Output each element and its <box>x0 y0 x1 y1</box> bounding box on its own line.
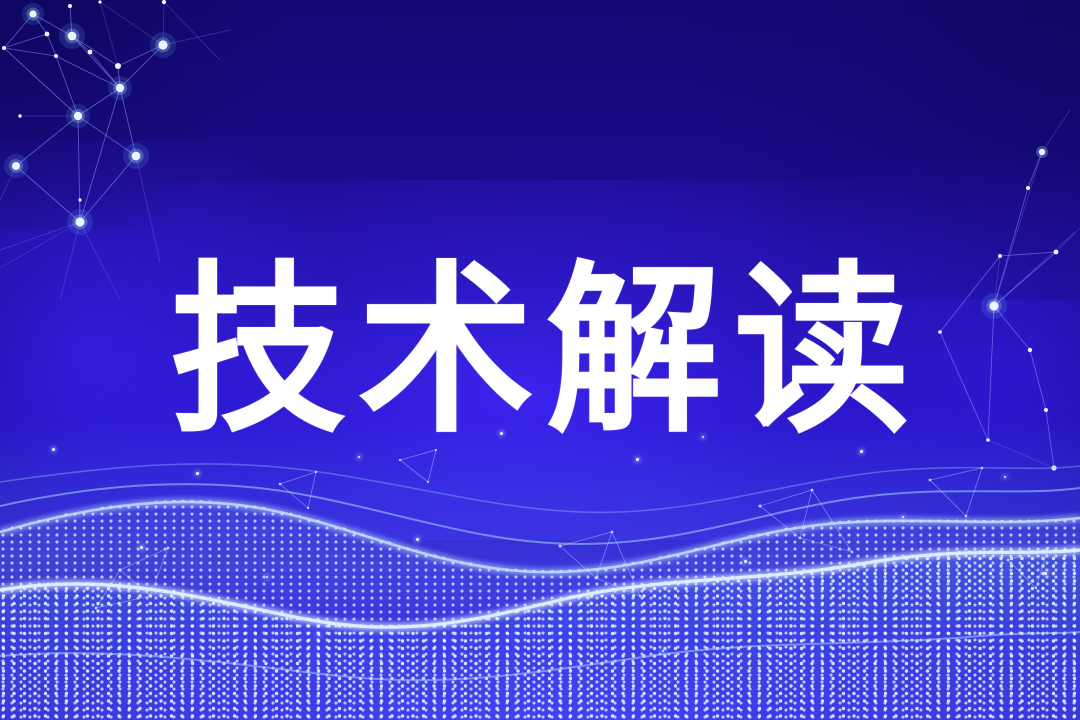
speck <box>500 432 503 435</box>
particle-wave-section <box>0 420 1080 720</box>
speck <box>52 448 55 451</box>
speck <box>1004 476 1006 478</box>
speck <box>196 472 199 475</box>
speck <box>266 576 268 578</box>
speck <box>416 538 419 541</box>
speck <box>318 634 320 636</box>
speck <box>702 436 704 438</box>
speck <box>744 560 747 563</box>
speck <box>842 626 844 628</box>
speck <box>140 546 143 549</box>
page-title: 技术解读 <box>158 260 922 443</box>
speck <box>586 596 588 598</box>
speck <box>358 456 360 458</box>
banner-canvas: 技术解读 <box>0 0 1080 720</box>
speck <box>1044 572 1047 575</box>
speck <box>662 650 664 652</box>
background-corner-vignette-top-left <box>0 0 300 230</box>
speck <box>902 516 904 518</box>
speck <box>860 450 863 453</box>
wave-specks-group <box>0 420 1080 720</box>
speck <box>636 458 639 461</box>
